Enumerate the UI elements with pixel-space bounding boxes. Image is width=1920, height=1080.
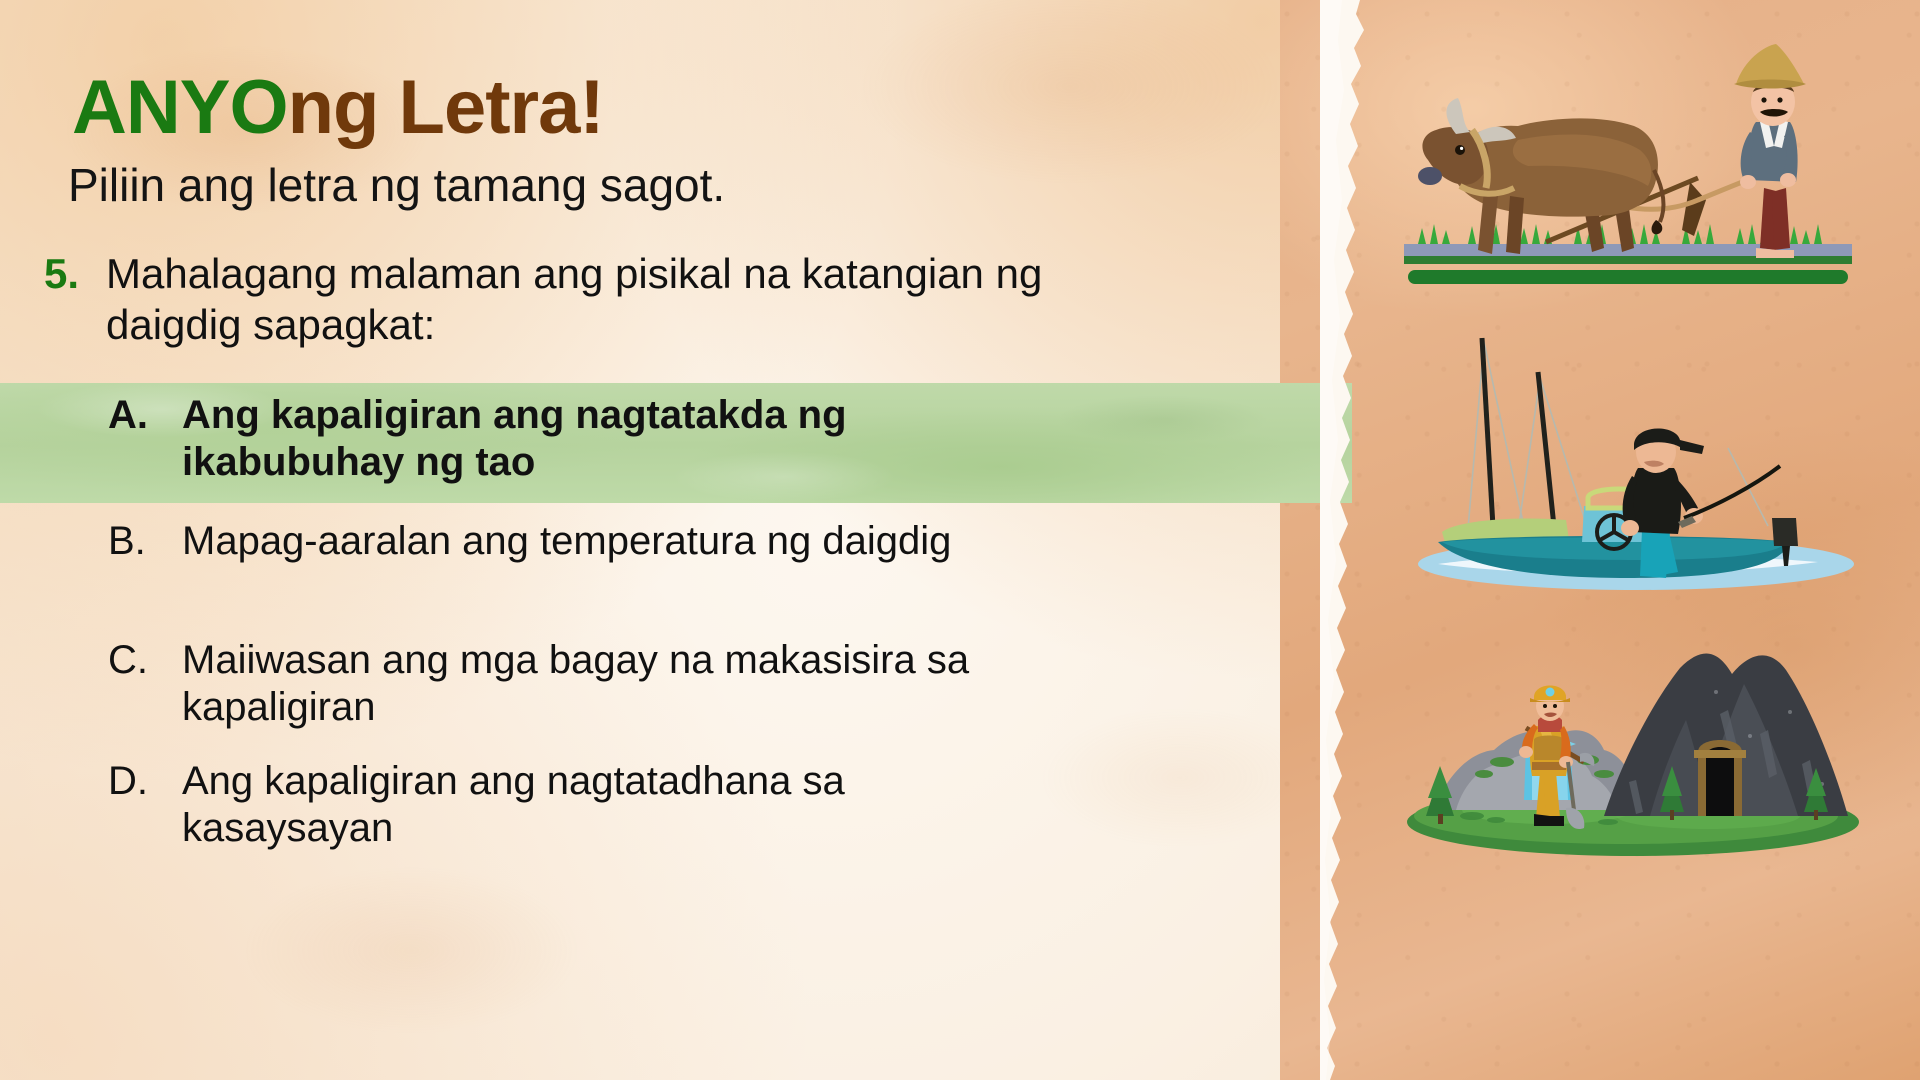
page-title-brown-part: ng Letra! xyxy=(288,65,604,150)
answer-option-b-text: Mapag-aaralan ang temperatura ng daigdig xyxy=(182,518,951,565)
question-block: 5. Mahalagang malaman ang pisikal na kat… xyxy=(44,248,1054,350)
slide-canvas: ANYOng Letra! Piliin ang letra ng tamang… xyxy=(0,0,1920,1080)
slide-text-content: ANYOng Letra! Piliin ang letra ng tamang… xyxy=(0,0,1372,1080)
answer-option-c-letter: C. xyxy=(108,637,182,684)
page-title: ANYOng Letra! xyxy=(72,70,604,146)
question-text: Mahalagang malaman ang pisikal na katang… xyxy=(106,248,1054,350)
answer-option-d[interactable]: D. Ang kapaligiran ang nagtatadhana sa k… xyxy=(108,758,1062,852)
farmer-plowing-with-carabao-illustration xyxy=(1398,30,1858,290)
answer-option-b[interactable]: B. Mapag-aaralan ang temperatura ng daig… xyxy=(108,518,951,565)
miner-at-mine-entrance-illustration xyxy=(1398,640,1868,870)
answer-option-a-text: Ang kapaligiran ang nagtatakda ng ikabub… xyxy=(182,392,1012,486)
fisherman-on-boat-illustration xyxy=(1398,320,1858,600)
answer-option-d-letter: D. xyxy=(108,758,182,805)
answer-option-d-text: Ang kapaligiran ang nagtatadhana sa kasa… xyxy=(182,758,1062,852)
answer-option-a-letter: A. xyxy=(108,392,182,439)
instruction-text: Piliin ang letra ng tamang sagot. xyxy=(68,158,725,212)
answer-option-c-text: Maiiwasan ang mga bagay na makasisira sa… xyxy=(182,637,1062,731)
answer-option-b-letter: B. xyxy=(108,518,182,565)
question-number: 5. xyxy=(44,248,106,299)
answer-option-c[interactable]: C. Maiiwasan ang mga bagay na makasisira… xyxy=(108,637,1062,731)
page-title-green-part: ANYO xyxy=(72,65,288,150)
answer-option-a[interactable]: A. Ang kapaligiran ang nagtatakda ng ika… xyxy=(108,392,1012,486)
